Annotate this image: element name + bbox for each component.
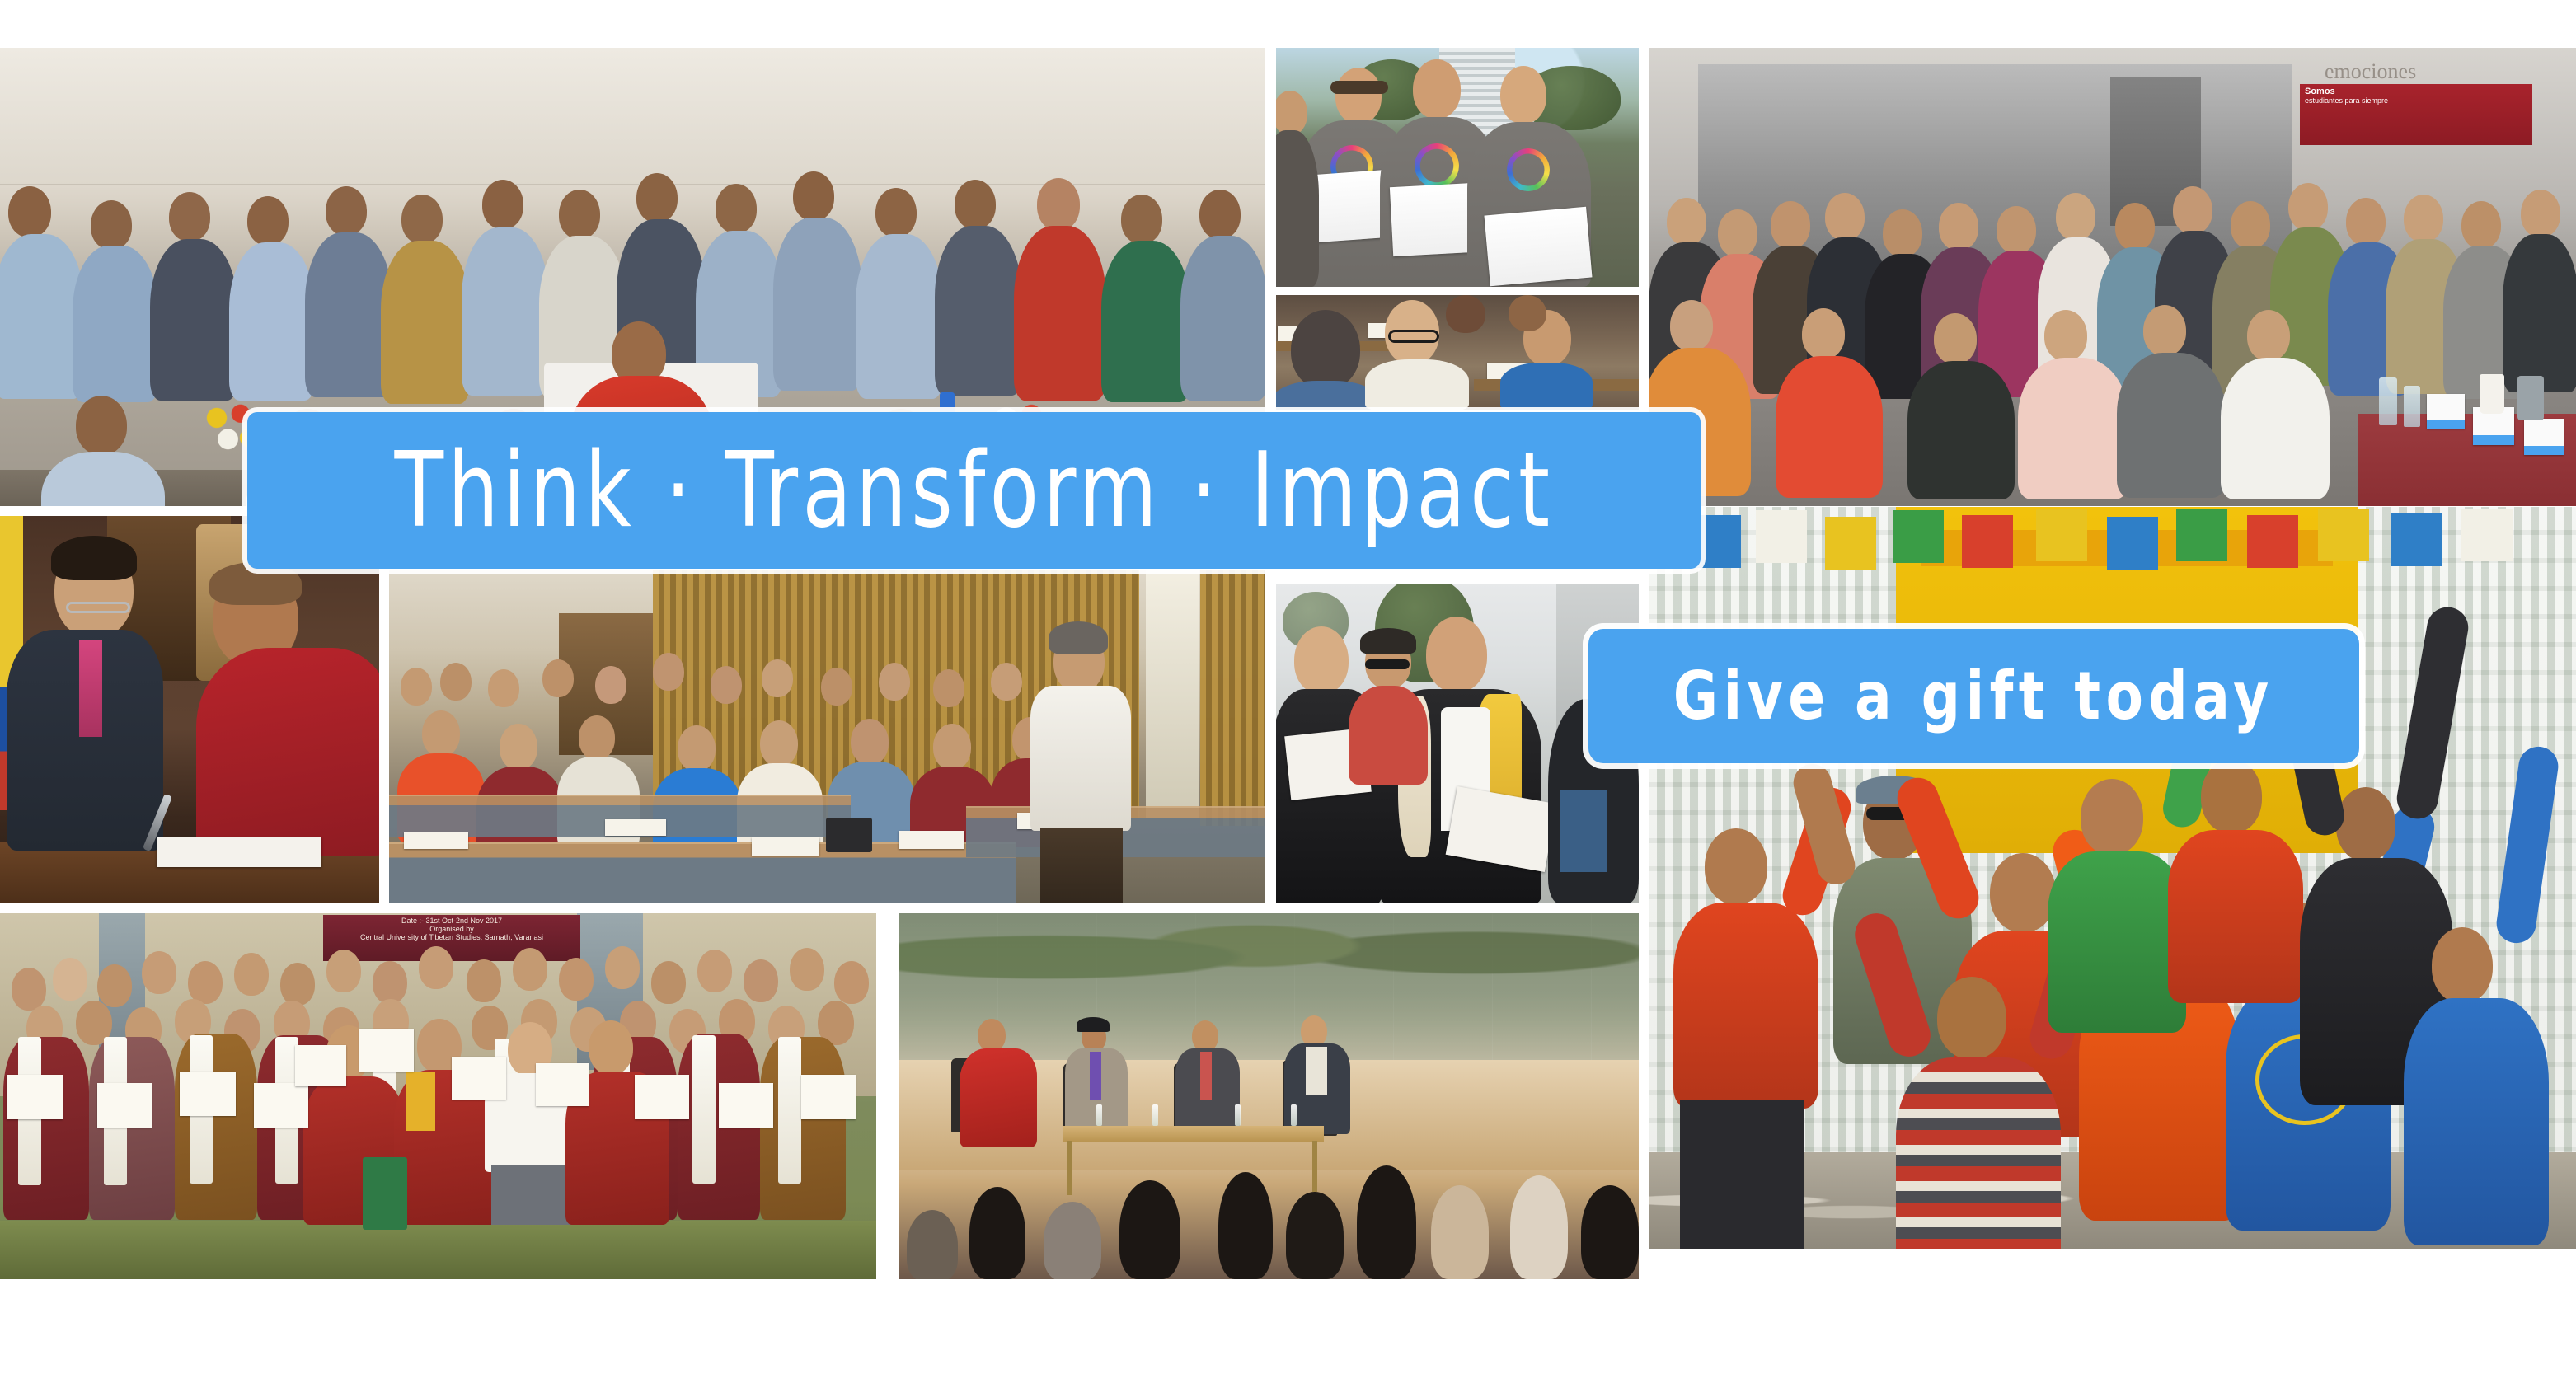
photo-diplomas [1276,48,1639,287]
hair [1049,621,1108,654]
sunglasses-icon [1365,659,1410,669]
photo-signing [0,516,379,903]
necktie [79,640,102,737]
give-a-gift-today-button[interactable]: Give a gift today [1588,629,2359,763]
banner-subtitle: estudiantes para siempre [2305,96,2388,105]
turban [1077,1017,1110,1032]
photo-scene [389,570,1265,903]
audience [899,1147,1639,1279]
photo-scene [899,913,1639,1279]
photo-scene: emociones Somos estudiantes para siempre [1649,48,2576,506]
wall-panel [0,48,1265,185]
person-back-head [1291,310,1360,389]
photo-classroom [389,570,1265,903]
banner-line-3: Central University of Tibetan Studies, S… [326,934,577,942]
lawn [0,1221,876,1279]
photo-graduation: Date :- 31st Oct-2nd Nov 2017 Organised … [0,913,876,1279]
give-a-gift-today-label: Give a gift today [1673,664,2274,729]
photo-women-papers [1276,584,1639,903]
photo-children [1649,507,2576,1249]
coffee-cup [2480,374,2504,414]
tablet [826,818,872,852]
necktie [1090,1052,1101,1100]
glasses-icon [1388,330,1439,343]
trees-outside [899,913,1639,1023]
photo-scene [1276,295,1639,410]
stage-table [1063,1126,1324,1142]
mexico-red-banner: Somos estudiantes para siempre [2300,84,2532,145]
jeans [1560,790,1607,872]
glasses-icon [66,602,130,613]
headline-text: Think · Transform · Impact [394,438,1554,542]
headline-banner: Think · Transform · Impact [247,412,1701,569]
photo-scene [1276,584,1639,903]
sunglasses-icon [1330,81,1388,94]
hair [51,536,137,580]
necktie [1200,1052,1212,1100]
green-bag [363,1157,407,1230]
photo-scene [1649,507,2576,1249]
person-partial [1276,91,1307,135]
photo-scene: Date :- 31st Oct-2nd Nov 2017 Organised … [0,913,876,1279]
photo-scene [0,516,379,903]
photo-discussion [1276,295,1639,410]
photo-panel [899,913,1639,1279]
photo-scene [1276,48,1639,287]
tumbler [2517,376,2544,420]
photo-group-mexico: emociones Somos estudiantes para siempre [1649,48,2576,506]
